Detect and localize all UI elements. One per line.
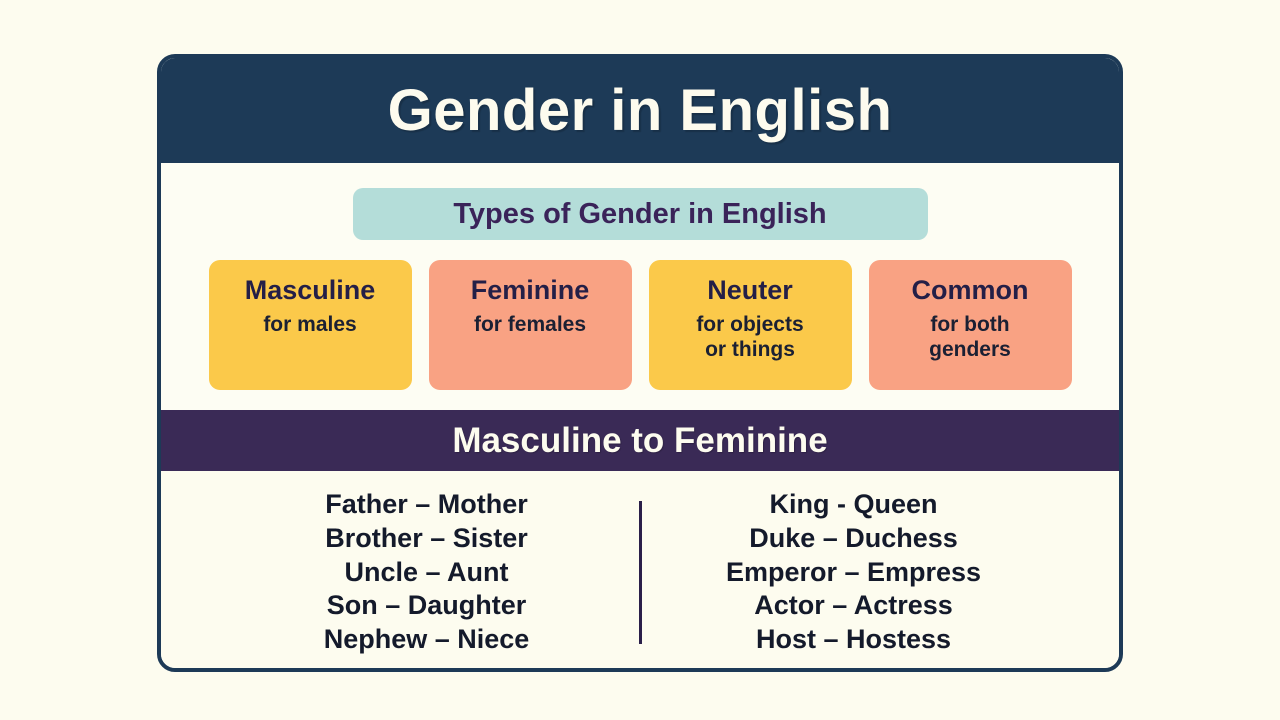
page-canvas: Gender in English Types of Gender in Eng…: [0, 0, 1280, 720]
gender-card-feminine[interactable]: Feminine for females: [429, 260, 632, 390]
page-title: Gender in English: [388, 82, 893, 140]
gender-card-title: Common: [912, 276, 1029, 305]
pair-item: Emperor – Empress: [726, 556, 981, 590]
gender-card-common[interactable]: Common for both genders: [869, 260, 1072, 390]
section-subtitle-chip: Types of Gender in English: [353, 188, 928, 240]
gender-card-description: for males: [263, 313, 356, 338]
pair-item: Actor – Actress: [754, 589, 953, 623]
title-bar: Gender in English: [161, 58, 1119, 163]
infographic-card: Gender in English Types of Gender in Eng…: [157, 54, 1123, 672]
gender-card-description: for both genders: [929, 313, 1011, 363]
pair-item: Duke – Duchess: [749, 522, 958, 556]
pair-item: King - Queen: [770, 488, 938, 522]
band-title: Masculine to Feminine: [452, 423, 827, 458]
gender-card-title: Feminine: [471, 276, 590, 305]
gender-card-neuter[interactable]: Neuter for objects or things: [649, 260, 852, 390]
section-subtitle-label: Types of Gender in English: [453, 200, 826, 229]
pair-item: Son – Daughter: [327, 589, 527, 623]
pair-item: Brother – Sister: [325, 522, 528, 556]
pairs-column-left: Father – Mother Brother – Sister Uncle –…: [217, 488, 637, 657]
types-section: Types of Gender in English Masculine for…: [161, 163, 1119, 410]
column-divider: [639, 501, 642, 644]
gender-card-title: Masculine: [245, 276, 376, 305]
gender-card-description: for females: [474, 313, 586, 338]
pair-item: Father – Mother: [325, 488, 528, 522]
pair-item: Host – Hostess: [756, 623, 951, 657]
gender-card-description: for objects or things: [696, 313, 803, 363]
pairs-column-right: King - Queen Duke – Duchess Emperor – Em…: [644, 488, 1064, 657]
pair-item: Nephew – Niece: [324, 623, 530, 657]
gender-type-cards: Masculine for males Feminine for females…: [209, 260, 1072, 390]
gender-card-title: Neuter: [707, 276, 793, 305]
masculine-to-feminine-band: Masculine to Feminine: [161, 410, 1119, 471]
gender-card-masculine[interactable]: Masculine for males: [209, 260, 412, 390]
pairs-section: Father – Mother Brother – Sister Uncle –…: [161, 471, 1119, 668]
pair-item: Uncle – Aunt: [344, 556, 508, 590]
